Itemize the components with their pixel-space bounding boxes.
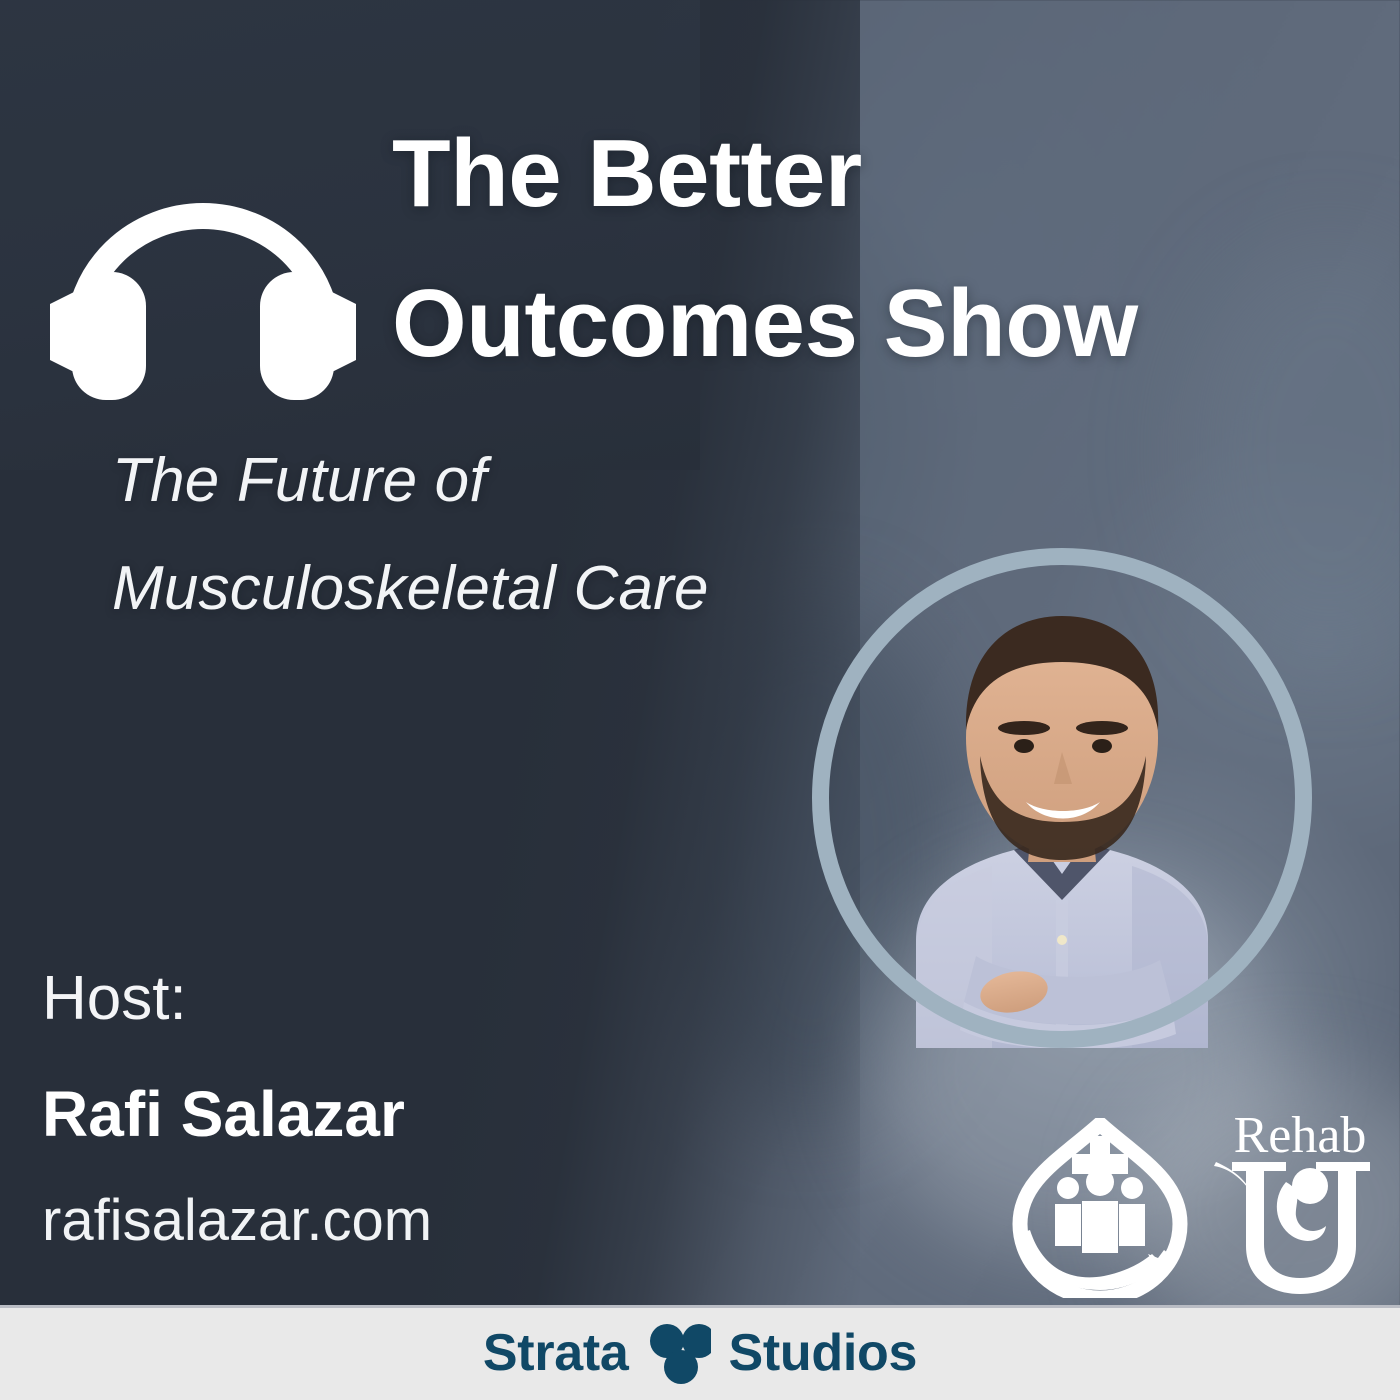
subtitle-line-2: Musculoskeletal Care: [112, 558, 932, 620]
three-circles-icon: [647, 1322, 711, 1384]
rehab-u-logo: Rehab: [1212, 1106, 1388, 1298]
headphones-icon: [38, 128, 368, 408]
host-info: Host: Rafi Salazar rafisalazar.com: [42, 968, 432, 1250]
show-subtitle: The Future of Musculoskeletal Care: [112, 450, 932, 620]
footer-brand-studios: Studios: [729, 1327, 918, 1379]
show-title: The Better Outcomes Show: [392, 126, 1332, 372]
host-website[interactable]: rafisalazar.com: [42, 1192, 432, 1250]
footer-bar: Strata Studios: [0, 1305, 1400, 1400]
footer-divider: [0, 1305, 1400, 1308]
host-portrait: [812, 548, 1312, 1048]
title-line-1: The Better: [392, 126, 1332, 222]
title-line-2: Outcomes Show: [392, 276, 1332, 372]
svg-text:Rehab: Rehab: [1234, 1107, 1367, 1164]
host-name: Rafi Salazar: [42, 1082, 432, 1146]
host-label: Host:: [42, 968, 432, 1030]
podcast-cover-art: The Better Outcomes Show The Future of M…: [0, 0, 1400, 1400]
subtitle-line-1: The Future of: [112, 450, 932, 512]
community-health-cross-logo: [1012, 1118, 1188, 1298]
portrait-ring: [812, 548, 1312, 1048]
footer-brand-strata: Strata: [483, 1327, 629, 1379]
